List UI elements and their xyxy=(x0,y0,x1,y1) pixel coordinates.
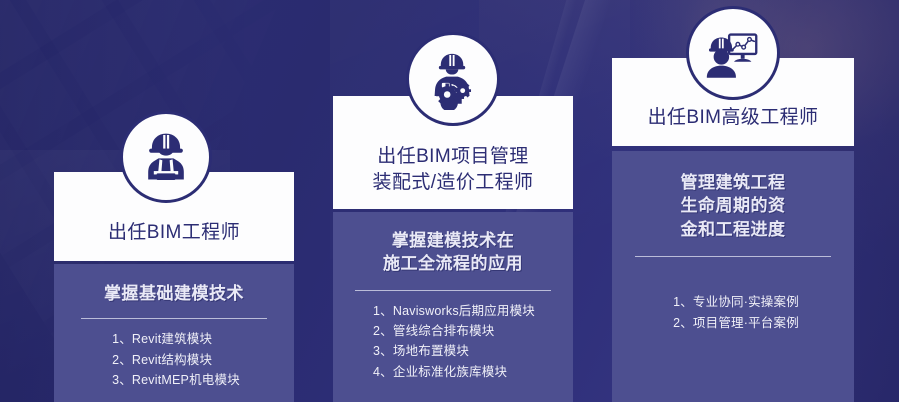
panel-heading: 掌握建模技术在 施工全流程的应用 xyxy=(383,229,523,276)
panel-divider xyxy=(355,290,551,291)
panel-heading: 管理建筑工程 生命周期的资 金和工程进度 xyxy=(681,171,786,241)
list-item: 4、企业标准化族库模块 xyxy=(373,362,535,382)
panel-divider xyxy=(635,256,831,257)
module-list: 1、专业协同·实操案例 2、项目管理·平台案例 xyxy=(667,292,799,333)
list-item: 1、Navisworks后期应用模块 xyxy=(373,301,535,321)
worker-helmet-icon-badge xyxy=(120,111,212,203)
list-item: 3、场地布置模块 xyxy=(373,341,535,361)
card-title: 出任BIM工程师 xyxy=(54,220,294,261)
list-item: 3、RevitMEP机电模块 xyxy=(112,370,240,390)
list-item: 1、专业协同·实操案例 xyxy=(673,292,799,312)
worker-gears-icon xyxy=(422,48,484,110)
module-list: 1、Navisworks后期应用模块 2、管线综合排布模块 3、场地布置模块 4… xyxy=(371,301,535,382)
worker-monitor-chart-icon-badge xyxy=(686,6,780,100)
poster-stage: 出任BIM工程师 掌握基础建模技术 1、Revit建筑模块 2、Revit结构模… xyxy=(0,0,899,402)
panel-divider xyxy=(81,318,267,319)
module-list: 1、Revit建筑模块 2、Revit结构模块 3、RevitMEP机电模块 xyxy=(108,329,240,390)
card-title: 出任BIM高级工程师 xyxy=(612,105,854,146)
list-item: 1、Revit建筑模块 xyxy=(112,329,240,349)
worker-helmet-icon xyxy=(136,127,196,187)
list-item: 2、项目管理·平台案例 xyxy=(673,313,799,333)
panel-heading: 掌握基础建模技术 xyxy=(104,282,244,305)
card-detail-panel: 掌握建模技术在 施工全流程的应用 1、Navisworks后期应用模块 2、管线… xyxy=(333,212,573,402)
worker-monitor-chart-icon xyxy=(702,22,764,84)
card-detail-panel: 管理建筑工程 生命周期的资 金和工程进度 1、专业协同·实操案例 2、项目管理·… xyxy=(612,151,854,402)
card-title: 出任BIM项目管理 装配式/造价工程师 xyxy=(333,144,573,209)
card-detail-panel: 掌握基础建模技术 1、Revit建筑模块 2、Revit结构模块 3、Revit… xyxy=(54,264,294,402)
list-item: 2、管线综合排布模块 xyxy=(373,321,535,341)
worker-gears-icon-badge xyxy=(406,32,500,126)
list-item: 2、Revit结构模块 xyxy=(112,350,240,370)
